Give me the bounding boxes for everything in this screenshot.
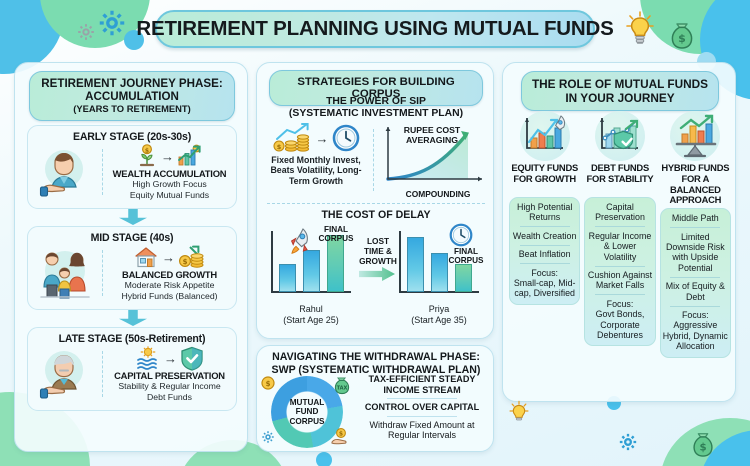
stage-sub2: Debt Funds — [107, 392, 232, 402]
gear-icon-decor — [261, 430, 275, 444]
svg-text:$: $ — [678, 32, 686, 45]
svg-text:$: $ — [276, 143, 281, 151]
svg-text:$: $ — [339, 431, 343, 438]
chart-priya-label: Priya(Start Age 35) — [393, 304, 485, 325]
stage-title: LATE STAGE (50s-Retirement) — [28, 333, 236, 345]
coin-hand-icon: $ — [331, 428, 351, 446]
fund-point-0: Middle Path — [663, 213, 728, 223]
fund-card-equity[interactable]: EQUITY FUNDS FOR GROWTH High Potential R… — [509, 109, 580, 358]
stage-divider — [102, 351, 103, 397]
fund-focus-label: Focus: — [512, 268, 577, 278]
chart-y-axis — [271, 231, 273, 293]
chart-priya: FINAL CORPUS Priya(Start Age 35) — [393, 225, 485, 303]
infographic-canvas: RETIREMENT PLANNING USING MUTUAL FUNDS $ — [0, 0, 750, 466]
bar-priya-3 — [455, 264, 472, 292]
bar-rahul-2 — [303, 250, 320, 292]
svg-text:$: $ — [145, 147, 149, 154]
fund-card-debt[interactable]: DEBT FUNDS FOR STABILITY Capital Preserv… — [584, 109, 655, 358]
stage-heading: BALANCED GROWTH — [107, 269, 232, 280]
swp-ring-label-line1: MUTUAL — [290, 398, 325, 407]
lost-time-arrow-icon — [359, 267, 395, 281]
stage-card-early[interactable]: EARLY STAGE (20s-30s) — [27, 125, 237, 209]
fund-focus-value: Govt Bonds, Corporate Debentures — [587, 309, 652, 340]
column-retirement-journey: RETIREMENT JOURNEY PHASE: ACCUMULATION (… — [14, 62, 248, 452]
fund-separator — [595, 294, 645, 295]
growth-chart-icon — [177, 144, 203, 168]
fund-details: Middle Path Limited Downside Risk with U… — [660, 208, 731, 357]
header: RETIREMENT PLANNING USING MUTUAL FUNDS $ — [0, 0, 750, 58]
fund-point-2: Cushion Against Market Falls — [587, 270, 652, 291]
stage-heading: WEALTH ACCUMULATION — [107, 168, 232, 179]
sip-body: $ — [263, 123, 489, 197]
swp-caption-line1: NAVIGATING THE WITHDRAWAL PHASE: — [263, 351, 489, 364]
swp-ring-label-line3: CORPUS — [289, 417, 324, 426]
sip-chart: RUPEE COST AVERAGING COMPOUNDING — [378, 123, 489, 197]
swp-cycle-diagram: MUTUAL FUND CORPUS $ TAX — [261, 372, 353, 450]
rocket-bar-chart-icon — [509, 109, 580, 163]
plant-coin-icon: $ — [136, 144, 158, 168]
rocket-icon — [287, 227, 313, 255]
stage-heading: CAPITAL PRESERVATION — [107, 370, 232, 381]
section-divider — [267, 203, 485, 204]
fund-point-2: Beat Inflation — [512, 249, 577, 259]
column-strategies: STRATEGIES FOR BUILDING CORPUS THE POWER… — [256, 62, 494, 452]
stage-title: EARLY STAGE (20s-30s) — [28, 131, 236, 143]
svg-text:$: $ — [266, 380, 271, 388]
fund-focus-label: Focus: — [663, 310, 728, 320]
swp-body: MUTUAL FUND CORPUS $ TAX — [261, 372, 491, 450]
cost-of-delay-charts: FINAL CORPUS Rahul(Start Age 25) LOST TI… — [261, 223, 491, 335]
stage-sub1: Moderate Risk Appetite — [107, 280, 232, 290]
sip-title: THE POWER OF SIP (SYSTEMATIC INVESTMENT … — [257, 96, 495, 120]
arrow-right-icon: → — [161, 149, 174, 164]
bar-priya-1 — [407, 237, 424, 292]
fund-point-1: Limited Downside Risk with Upside Potent… — [663, 232, 728, 274]
coin-icon: $ — [261, 376, 275, 390]
fund-point-2: Mix of Equity & Debt — [663, 281, 728, 302]
chart-rahul-label: Rahul(Start Age 25) — [265, 304, 357, 325]
fund-separator — [520, 263, 570, 264]
svg-text:$: $ — [183, 258, 188, 266]
fund-separator — [520, 245, 570, 246]
column-role-of-mutual-funds: THE ROLE OF MUTUAL FUNDS IN YOUR JOURNEY — [502, 62, 736, 402]
column1-caption-line2: ACCUMULATION — [32, 90, 232, 103]
fund-separator — [595, 266, 645, 267]
swp-ring-label-line2: FUND — [296, 407, 319, 416]
swp-separator — [387, 398, 457, 399]
fund-details: Capital Preservation Regular Income & Lo… — [584, 197, 655, 346]
fund-separator — [595, 226, 645, 227]
stage-divider — [102, 149, 103, 195]
sip-title-line2: (SYSTEMATIC INVESTMENT PLAN) — [257, 108, 495, 120]
sip-left: $ — [263, 123, 369, 197]
tax-bag-hand-icon: TAX — [331, 376, 353, 398]
cost-of-delay-title: THE COST OF DELAY — [257, 209, 495, 221]
stage-title: MID STAGE (40s) — [28, 232, 236, 244]
money-bag-icon: $ — [668, 20, 696, 50]
column3-caption: THE ROLE OF MUTUAL FUNDS IN YOUR JOURNEY — [521, 71, 719, 111]
fund-separator — [520, 226, 570, 227]
stage-sub2: Hybrid Funds (Balanced) — [107, 291, 232, 301]
fund-name: HYBRID FUNDS FOR A BALANCED APPROACH — [660, 163, 731, 206]
svg-text:TAX: TAX — [337, 386, 348, 392]
fund-name: EQUITY FUNDS FOR GROWTH — [509, 163, 580, 195]
shield-check-icon — [180, 346, 204, 371]
stage-sub1: Stability & Regular Income — [107, 381, 232, 391]
sip-chart-ylabel: RUPEE COST AVERAGING — [394, 125, 470, 145]
page-title-banner: RETIREMENT PLANNING USING MUTUAL FUNDS — [155, 10, 595, 48]
swp-benefits: TAX-EFFICIENT STEADY INCOME STREAM CONTR… — [353, 372, 491, 450]
sip-divider — [373, 129, 374, 191]
panel-swp: NAVIGATING THE WITHDRAWAL PHASE: SWP (SY… — [256, 345, 494, 452]
sip-chart-xlabel: COMPOUNDING — [382, 189, 494, 199]
column1-caption: RETIREMENT JOURNEY PHASE: ACCUMULATION (… — [29, 71, 235, 121]
coins-growth-icon: $ — [273, 123, 313, 153]
column3-caption-line2: IN YOUR JOURNEY — [524, 91, 716, 105]
fund-types-row: EQUITY FUNDS FOR GROWTH High Potential R… — [509, 109, 731, 358]
house-icon — [133, 245, 159, 269]
senior-man-icon — [32, 349, 98, 399]
shield-bar-chart-icon — [584, 109, 655, 163]
stage-divider — [102, 250, 103, 296]
svg-text:$: $ — [699, 443, 706, 454]
fund-point-0: Capital Preservation — [587, 202, 652, 223]
sunset-beach-icon — [135, 346, 161, 370]
page-title: RETIREMENT PLANNING USING MUTUAL FUNDS — [136, 17, 613, 41]
clock-icon — [449, 223, 473, 247]
clock-icon — [332, 124, 360, 152]
chart-rahul: FINAL CORPUS Rahul(Start Age 25) — [265, 225, 357, 303]
chart-y-axis — [399, 231, 401, 293]
fund-separator — [670, 306, 720, 307]
swp-item-0: TAX-EFFICIENT STEADY INCOME STREAM — [353, 374, 491, 395]
young-man-icon — [32, 147, 98, 197]
flow-arrow-down-2 — [119, 310, 147, 326]
balance-scale-chart-icon — [660, 109, 731, 163]
column1-caption-line3: (YEARS TO RETIREMENT) — [32, 103, 232, 115]
swp-item-2: Withdraw Fixed Amount at Regular Interva… — [353, 420, 491, 441]
swp-item-1: CONTROL OVER CAPITAL — [353, 402, 491, 413]
lightbulb-icon — [625, 10, 655, 48]
fund-point-1: Regular Income & Lower Volatility — [587, 231, 652, 262]
stage-sub2: Equity Mutual Funds — [107, 190, 232, 200]
coins-stack-icon: $ — [178, 245, 206, 269]
fund-card-hybrid[interactable]: HYBRID FUNDS FOR A BALANCED APPROACH Mid… — [660, 109, 731, 358]
column3-caption-line1: THE ROLE OF MUTUAL FUNDS — [524, 77, 716, 91]
bar-rahul-1 — [279, 264, 296, 292]
fund-details: High Potential Returns Wealth Creation B… — [509, 197, 580, 305]
fund-point-0: High Potential Returns — [512, 202, 577, 223]
column1-caption-line1: RETIREMENT JOURNEY PHASE: — [32, 77, 232, 90]
arrow-right-icon: → — [164, 351, 177, 366]
final-corpus-label-priya: FINAL CORPUS — [445, 247, 487, 266]
flow-arrow-down-1 — [119, 209, 147, 225]
fund-focus-label: Focus: — [587, 299, 652, 309]
family-icon — [32, 247, 98, 299]
panel-building-corpus: STRATEGIES FOR BUILDING CORPUS THE POWER… — [256, 62, 494, 339]
fund-focus-value: Aggressive Hybrid, Dynamic Allocation — [663, 320, 728, 351]
arrow-right-icon: → — [162, 250, 175, 265]
fund-focus-value: Small-cap, Mid-cap, Diversified — [512, 278, 577, 299]
gear-icon-large — [97, 8, 127, 38]
fund-point-1: Wealth Creation — [512, 231, 577, 241]
decor-dot-blue-bottom — [316, 452, 332, 466]
fund-separator — [670, 277, 720, 278]
swp-separator — [387, 416, 457, 417]
fund-separator — [670, 227, 720, 228]
gear-icon-small — [76, 22, 96, 42]
stage-card-late[interactable]: LATE STAGE (50s-Retirement) — [27, 327, 237, 411]
stage-card-mid[interactable]: MID STAGE (40s) — [27, 226, 237, 310]
final-corpus-label-rahul: FINAL CORPUS — [315, 225, 357, 244]
lightbulb-icon-bottom — [508, 400, 530, 426]
sip-title-line1: THE POWER OF SIP — [257, 96, 495, 108]
sip-left-text: Fixed Monthly Invest, Beats Volatility, … — [263, 155, 369, 186]
money-bag-icon-bottom: $ — [690, 430, 716, 458]
gear-icon-bottom — [618, 432, 638, 452]
arrow-right-icon: → — [316, 131, 329, 146]
stage-sub1: High Growth Focus — [107, 179, 232, 189]
fund-name: DEBT FUNDS FOR STABILITY — [584, 163, 655, 195]
